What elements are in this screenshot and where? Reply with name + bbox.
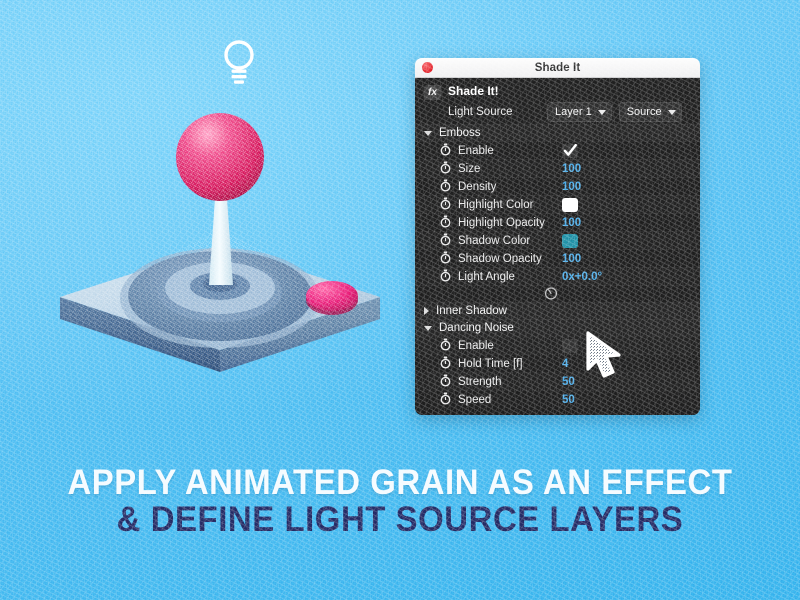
property-value[interactable]: 0x+0.0° (562, 271, 602, 283)
stopwatch-icon[interactable] (440, 197, 451, 213)
shade-it-effects-panel[interactable]: Shade It fx Shade It! Light Source Layer… (415, 58, 700, 415)
property-row[interactable]: Hold Time [f]4 (415, 354, 700, 372)
property-label: Density (458, 181, 562, 193)
stopwatch-icon[interactable] (440, 161, 451, 177)
angle-dial-row[interactable] (415, 285, 700, 302)
stopwatch-icon[interactable] (440, 392, 451, 408)
property-value[interactable]: 100 (562, 253, 581, 265)
chevron-down-icon[interactable] (424, 326, 432, 331)
layer-dropdown-value: Layer 1 (555, 105, 592, 119)
panel-body: fx Shade It! Light Source Layer 1 Source (415, 78, 700, 415)
headline-line-2: & DEFINE LIGHT SOURCE LAYERS (24, 503, 776, 537)
lightbulb-icon (219, 38, 259, 86)
angle-dial-icon[interactable] (544, 286, 558, 303)
poster-canvas: Shade It fx Shade It! Light Source Layer… (0, 0, 800, 600)
isometric-joystick-illustration (55, 110, 385, 375)
headline: APPLY ANIMATED GRAIN AS AN EFFECT & DEFI… (0, 466, 800, 538)
property-label: Hold Time [f] (458, 358, 562, 370)
property-row[interactable]: Enable (415, 336, 700, 354)
property-row[interactable]: Enable (415, 141, 700, 159)
layer-dropdown[interactable]: Layer 1 (547, 102, 612, 122)
effect-name: Shade It! (448, 84, 692, 99)
chevron-down-icon[interactable] (424, 131, 432, 136)
property-label: Enable (458, 145, 562, 157)
property-row[interactable]: Shadow Opacity100 (415, 249, 700, 267)
property-value[interactable]: 50 (562, 394, 575, 406)
stopwatch-icon[interactable] (440, 251, 451, 267)
panel-titlebar[interactable]: Shade It (415, 58, 700, 78)
property-label: Highlight Color (458, 199, 562, 211)
panel-title: Shade It (415, 62, 700, 74)
enable-checkbox[interactable] (562, 339, 578, 353)
stopwatch-icon[interactable] (440, 179, 451, 195)
property-label: Size (458, 163, 562, 175)
chevron-right-icon[interactable] (424, 307, 429, 315)
enable-checkbox[interactable] (562, 144, 578, 158)
group-header-inner-shadow[interactable]: Inner Shadow (415, 302, 700, 319)
property-value[interactable]: 100 (562, 163, 581, 175)
property-label: Speed (458, 394, 562, 406)
property-row[interactable]: Density100 (415, 177, 700, 195)
fx-badge-icon[interactable]: fx (424, 85, 441, 100)
property-value[interactable]: 100 (562, 181, 581, 193)
property-row[interactable]: Strength50 (415, 372, 700, 390)
group-name: Dancing Noise (439, 322, 514, 334)
property-label: Light Angle (458, 271, 562, 283)
stopwatch-icon[interactable] (440, 143, 451, 159)
headline-line-1: APPLY ANIMATED GRAIN AS AN EFFECT (24, 466, 776, 500)
group-name: Inner Shadow (436, 305, 507, 317)
property-value[interactable]: 100 (562, 217, 581, 229)
stopwatch-icon[interactable] (440, 374, 451, 390)
property-value[interactable]: 50 (562, 376, 575, 388)
color-swatch[interactable] (562, 234, 578, 248)
stopwatch-icon[interactable] (440, 356, 451, 372)
group-name: Emboss (439, 127, 481, 139)
property-label: Highlight Opacity (458, 217, 562, 229)
property-label: Enable (458, 340, 562, 352)
chevron-down-icon (598, 110, 606, 115)
stopwatch-icon[interactable] (440, 215, 451, 231)
property-label: Strength (458, 376, 562, 388)
property-label: Shadow Color (458, 235, 562, 247)
property-row[interactable]: Size100 (415, 159, 700, 177)
property-row[interactable]: Light Angle0x+0.0° (415, 267, 700, 285)
property-row[interactable]: Highlight Color (415, 195, 700, 213)
property-label: Shadow Opacity (458, 253, 562, 265)
stopwatch-icon[interactable] (440, 233, 451, 249)
property-groups: EmbossEnableSize100Density100Highlight C… (415, 124, 700, 408)
light-source-label: Light Source (448, 106, 540, 118)
source-dropdown-value: Source (627, 105, 662, 119)
chevron-down-icon (668, 110, 676, 115)
source-dropdown[interactable]: Source (619, 102, 682, 122)
group-header-dancing-noise[interactable]: Dancing Noise (415, 319, 700, 336)
property-row[interactable]: Shadow Color (415, 231, 700, 249)
group-header-emboss[interactable]: Emboss (415, 124, 700, 141)
property-row[interactable]: Speed50 (415, 390, 700, 408)
property-row[interactable]: Highlight Opacity100 (415, 213, 700, 231)
color-swatch[interactable] (562, 198, 578, 212)
light-source-row: Light Source Layer 1 Source (448, 102, 692, 122)
effect-header: fx Shade It! Light Source Layer 1 Source (415, 78, 700, 124)
property-value[interactable]: 4 (562, 358, 568, 370)
stopwatch-icon[interactable] (440, 269, 451, 285)
stopwatch-icon[interactable] (440, 338, 451, 354)
